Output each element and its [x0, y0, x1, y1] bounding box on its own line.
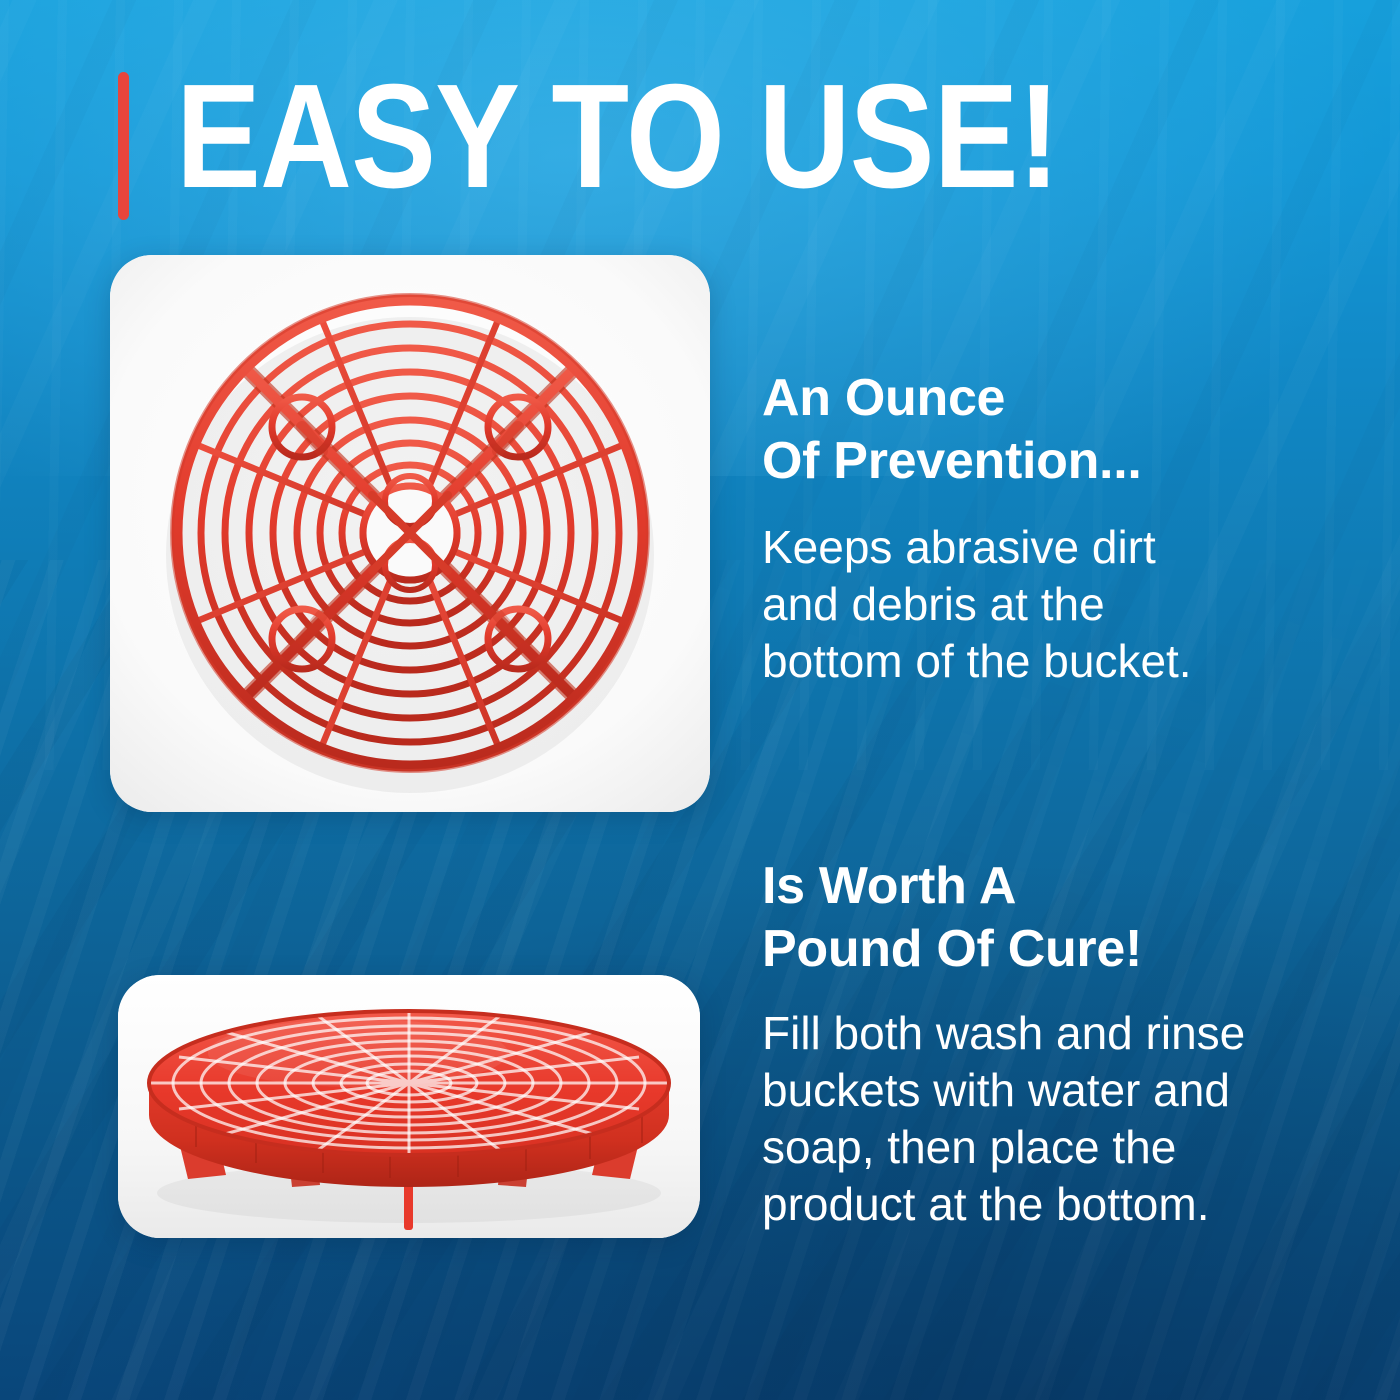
block-two-body: Fill both wash and rinse buckets with wa… — [762, 1005, 1322, 1233]
text-block-cure: Is Worth A Pound Of Cure! Fill both wash… — [762, 855, 1322, 1233]
grit-guard-angled-view-image — [118, 975, 700, 1238]
block-one-heading: An Ounce Of Prevention... — [762, 367, 1322, 493]
block-two-heading: Is Worth A Pound Of Cure! — [762, 855, 1322, 981]
block-one-body: Keeps abrasive dirt and debris at the bo… — [762, 519, 1322, 690]
headline-row: EASY TO USE! — [118, 68, 1203, 220]
grit-guard-top-view-image — [110, 255, 710, 812]
page-title: EASY TO USE! — [176, 68, 1059, 206]
infographic-page: EASY TO USE! — [0, 0, 1400, 1400]
grit-guard-top-view-card — [110, 255, 710, 812]
accent-bar — [118, 72, 129, 220]
grit-guard-angled-view-card — [118, 975, 700, 1238]
text-block-prevention: An Ounce Of Prevention... Keeps abrasive… — [762, 367, 1322, 690]
